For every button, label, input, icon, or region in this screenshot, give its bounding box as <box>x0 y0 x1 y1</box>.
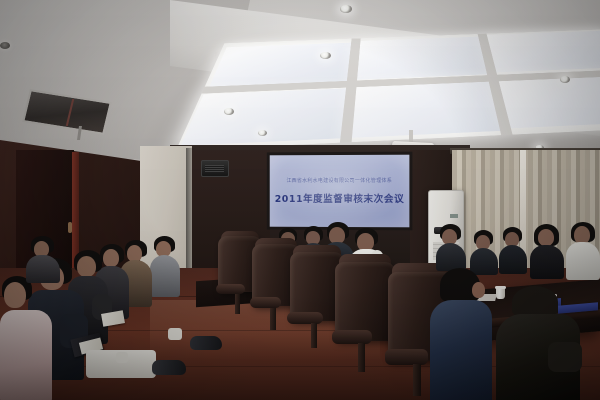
projection-screen: 江西省水利水电建设有限公司一体化管理体系 2011年度监督审核末次会议 <box>267 152 413 231</box>
ceiling-light-panel <box>351 81 501 138</box>
attendee <box>530 224 564 278</box>
screen-glare <box>270 155 410 228</box>
door-handle[interactable] <box>68 222 72 233</box>
ceiling-light-panel-group <box>176 29 600 150</box>
attendee <box>436 224 466 270</box>
ceiling-downlight-icon <box>320 52 331 59</box>
ceiling-downlight-icon <box>258 130 267 136</box>
sock <box>116 352 128 363</box>
attendee <box>566 222 600 280</box>
ceiling-light-panel <box>181 88 346 145</box>
attendee-foreground <box>496 286 580 400</box>
ceiling-downlight-icon <box>0 42 10 49</box>
attendee <box>499 227 527 273</box>
sock <box>168 328 182 340</box>
wall-speaker <box>201 160 229 177</box>
ceiling-light-panel <box>356 37 487 80</box>
attendee <box>150 236 180 296</box>
shoe <box>190 336 222 350</box>
attendee-foreground <box>430 268 492 400</box>
shoe <box>152 360 186 375</box>
ceiling-downlight-icon <box>560 76 570 83</box>
ceiling-light-panel <box>497 73 600 128</box>
ceiling-downlight-icon <box>340 5 352 13</box>
conference-room-photo: 江西省水利水电建设有限公司一体化管理体系 2011年度监督审核末次会议 <box>0 0 600 400</box>
attendee <box>26 236 60 280</box>
ceiling-light-panel <box>486 31 600 73</box>
attendee <box>0 276 52 400</box>
ceiling-downlight-icon <box>224 108 234 115</box>
projected-slide: 江西省水利水电建设有限公司一体化管理体系 2011年度监督审核末次会议 <box>270 155 410 228</box>
